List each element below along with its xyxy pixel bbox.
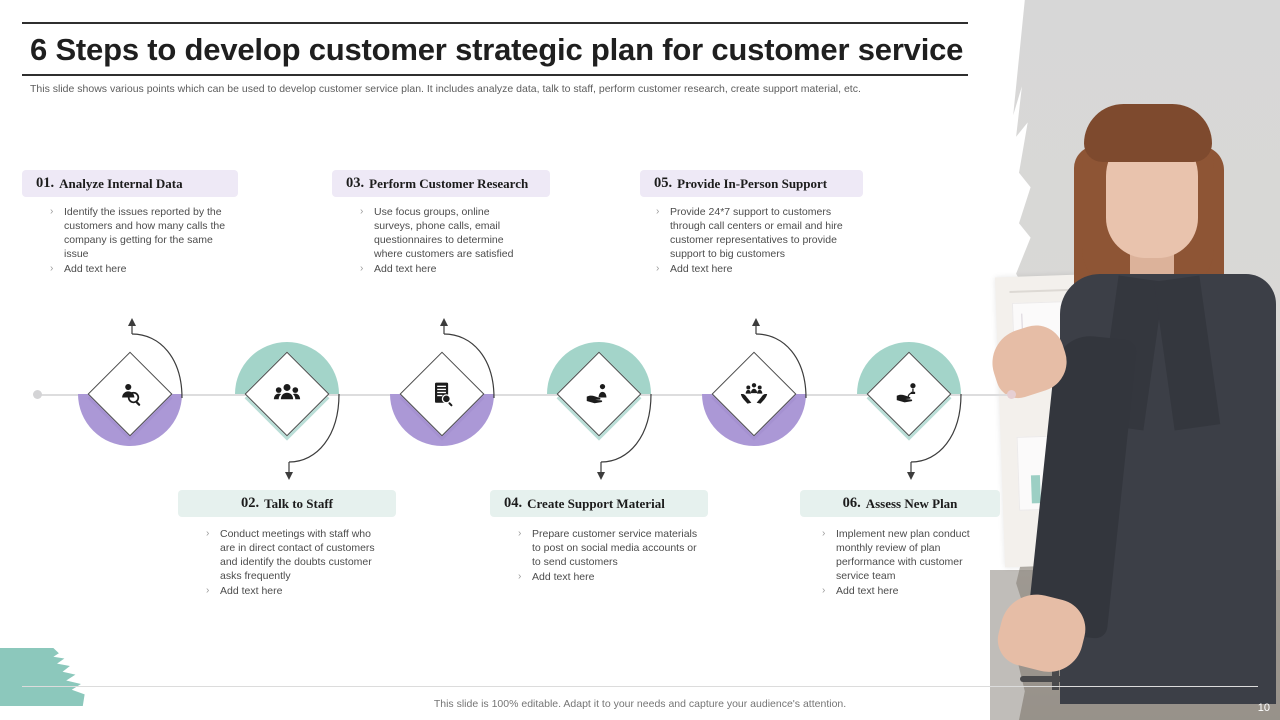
page-number: 10 xyxy=(1258,702,1270,714)
step-label-03: Perform Customer Research xyxy=(369,176,528,192)
step-header-01[interactable]: 01. Analyze Internal Data xyxy=(22,170,238,197)
step-header-03[interactable]: 03. Perform Customer Research xyxy=(332,170,550,197)
step-header-06[interactable]: 06. Assess New Plan xyxy=(800,490,1000,517)
title-divider-top xyxy=(22,22,968,24)
chevron-right-icon: › xyxy=(656,205,670,261)
list-item: › Use focus groups, online surveys, phon… xyxy=(360,205,530,261)
list-item: › Add text here xyxy=(360,262,530,276)
step-number-06: 06. xyxy=(843,495,861,512)
list-item: › Add text here xyxy=(822,584,987,598)
list-item: › Add text here xyxy=(50,262,240,276)
step-bullets-05: › Provide 24*7 support to customers thro… xyxy=(656,205,856,277)
connector-arrow-05 xyxy=(744,318,824,405)
step-label-05: Provide In-Person Support xyxy=(677,176,827,192)
page-title: 6 Steps to develop customer strategic pl… xyxy=(30,28,970,72)
footer-note: This slide is 100% editable. Adapt it to… xyxy=(0,698,1280,710)
chevron-right-icon: › xyxy=(50,262,64,276)
step-bullets-04: › Prepare customer service materials to … xyxy=(518,527,703,585)
step-header-04[interactable]: 04. Create Support Material xyxy=(490,490,708,517)
chevron-right-icon: › xyxy=(822,584,836,598)
step-number-04: 04. xyxy=(504,495,522,512)
list-item: › Add text here xyxy=(518,570,703,584)
connector-arrow-04 xyxy=(589,394,669,485)
footer-divider xyxy=(22,686,1258,687)
list-item: › Add text here xyxy=(206,584,386,598)
step-header-02[interactable]: 02. Talk to Staff xyxy=(178,490,396,517)
step-header-05[interactable]: 05. Provide In-Person Support xyxy=(640,170,863,197)
step-label-04: Create Support Material xyxy=(527,496,665,512)
timeline-end-dot xyxy=(1007,390,1016,399)
chevron-right-icon: › xyxy=(656,262,670,276)
chevron-right-icon: › xyxy=(206,527,220,583)
timeline-start-dot xyxy=(33,390,42,399)
list-item: › Conduct meetings with staff who are in… xyxy=(206,527,386,583)
chevron-right-icon: › xyxy=(518,570,532,584)
list-item: › Provide 24*7 support to customers thro… xyxy=(656,205,856,261)
list-item: › Implement new plan conduct monthly rev… xyxy=(822,527,987,583)
step-bullets-02: › Conduct meetings with staff who are in… xyxy=(206,527,386,599)
chevron-right-icon: › xyxy=(360,205,374,261)
connector-arrow-01 xyxy=(120,318,200,405)
step-number-02: 02. xyxy=(241,495,259,512)
list-item: › Identify the issues reported by the cu… xyxy=(50,205,240,261)
step-label-06: Assess New Plan xyxy=(866,496,958,512)
chevron-right-icon: › xyxy=(360,262,374,276)
step-bullets-03: › Use focus groups, online surveys, phon… xyxy=(360,205,530,277)
connector-arrow-02 xyxy=(277,394,357,485)
presenter-photo-panel xyxy=(980,0,1280,720)
chevron-right-icon: › xyxy=(50,205,64,261)
list-item: › Add text here xyxy=(656,262,856,276)
step-number-01: 01. xyxy=(36,175,54,192)
chevron-right-icon: › xyxy=(206,584,220,598)
slide-canvas: 6 Steps to develop customer strategic pl… xyxy=(0,0,1280,720)
slide-subtitle: This slide shows various points which ca… xyxy=(30,82,990,96)
step-bullets-01: › Identify the issues reported by the cu… xyxy=(50,205,240,277)
chevron-right-icon: › xyxy=(822,527,836,583)
step-label-01: Analyze Internal Data xyxy=(59,176,183,192)
step-number-05: 05. xyxy=(654,175,672,192)
step-number-03: 03. xyxy=(346,175,364,192)
chevron-right-icon: › xyxy=(518,527,532,569)
presenter-figure xyxy=(1044,96,1280,720)
list-item: › Prepare customer service materials to … xyxy=(518,527,703,569)
connector-arrow-06 xyxy=(899,394,979,485)
step-bullets-06: › Implement new plan conduct monthly rev… xyxy=(822,527,987,599)
step-label-02: Talk to Staff xyxy=(264,496,333,512)
hair-front xyxy=(1084,104,1212,162)
title-divider-bottom xyxy=(22,74,968,76)
connector-arrow-03 xyxy=(432,318,512,405)
